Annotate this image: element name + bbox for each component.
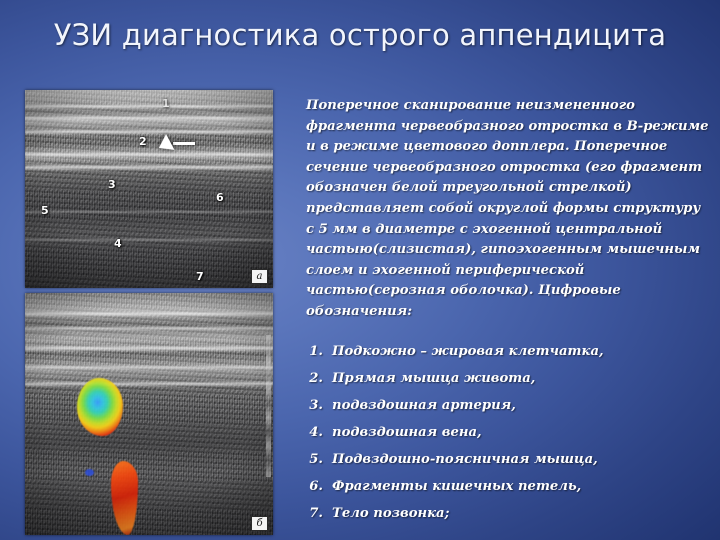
us-label-3: 3: [108, 179, 116, 190]
list-item-label: подвздошная вена,: [332, 425, 482, 440]
list-item: 6. Фрагменты кишечных петель,: [306, 479, 710, 506]
list-item-marker: 3.: [306, 398, 332, 413]
caption-block: Поперечное сканирование неизмененного фр…: [306, 96, 710, 323]
caption-paragraph: Поперечное сканирование неизмененного фр…: [306, 96, 710, 323]
image-corner-label-b: б: [251, 516, 268, 531]
marker-arrow-tail-icon: [173, 142, 195, 145]
list-item: 5. Подвздошно-поясничная мышца,: [306, 452, 710, 479]
image-corner-label-a: а: [251, 269, 268, 284]
list-item: 3. подвздошная артерия,: [306, 398, 710, 425]
ultrasound-image-stack: 1 2 3 4 5 6 7 а б: [25, 90, 273, 535]
us-label-1: 1: [162, 98, 170, 109]
presentation-slide: УЗИ диагностика острого аппендицита 1 2 …: [0, 0, 720, 540]
us-label-6: 6: [216, 192, 224, 203]
image-vignette: [25, 90, 273, 288]
us-label-2: 2: [139, 136, 147, 147]
list-item: 7. Тело позвонка;: [306, 506, 710, 533]
list-item-label: Прямая мышца живота,: [332, 371, 535, 386]
list-item-marker: 1.: [306, 344, 332, 359]
us-label-4: 4: [114, 238, 122, 249]
list-item: 1. Подкожно – жировая клетчатка,: [306, 344, 710, 371]
list-item: 2. Прямая мышца живота,: [306, 371, 710, 398]
list-item-label: Тело позвонка;: [332, 506, 449, 521]
ultrasound-image-doppler: б: [25, 293, 273, 535]
image-vignette: [25, 293, 273, 535]
list-item-marker: 6.: [306, 479, 332, 494]
list-item-marker: 4.: [306, 425, 332, 440]
list-item-marker: 7.: [306, 506, 332, 521]
numbered-legend-list: 1. Подкожно – жировая клетчатка, 2. Прям…: [306, 344, 710, 533]
ultrasound-image-bmode: 1 2 3 4 5 6 7 а: [25, 90, 273, 288]
list-item-label: Подвздошно-поясничная мышца,: [332, 452, 598, 467]
list-item-label: Фрагменты кишечных петель,: [332, 479, 581, 494]
page-title: УЗИ диагностика острого аппендицита: [22, 18, 698, 52]
list-item-label: Подкожно – жировая клетчатка,: [332, 344, 604, 359]
list-item-marker: 5.: [306, 452, 332, 467]
slide-title-container: УЗИ диагностика острого аппендицита: [0, 18, 720, 52]
list-item-label: подвздошная артерия,: [332, 398, 516, 413]
list-item-marker: 2.: [306, 371, 332, 386]
us-label-7: 7: [196, 271, 204, 282]
us-label-5: 5: [41, 205, 49, 216]
list-item: 4. подвздошная вена,: [306, 425, 710, 452]
